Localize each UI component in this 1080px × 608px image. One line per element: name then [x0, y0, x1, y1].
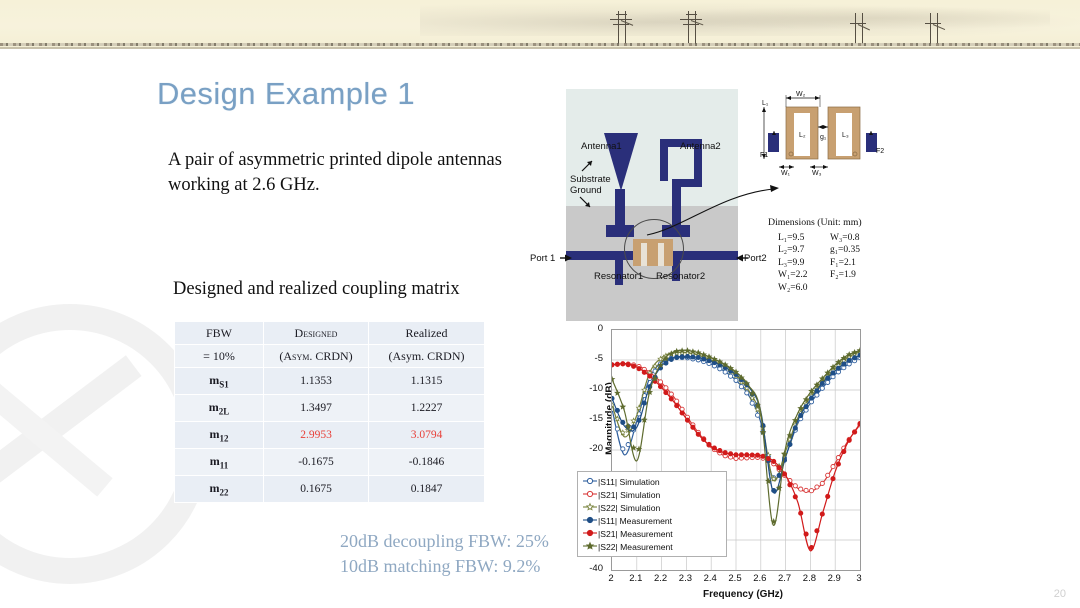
header-designed-sub: (Asym. CRDN)	[264, 345, 369, 368]
header-designed: Designed	[264, 322, 369, 345]
row-label: m22	[175, 476, 264, 503]
row-realized-value: -0.1846	[369, 449, 485, 476]
tower-mast	[930, 13, 938, 44]
chart-x-tick: 2.6	[747, 573, 773, 584]
s-parameter-chart: Magnitude (dB) Frequency (GHz) 0-5-10-15…	[565, 321, 875, 606]
legend-label: |S21| Measurement	[598, 529, 673, 539]
page-number: 20	[1054, 588, 1066, 600]
chart-x-tick: 2.9	[821, 573, 847, 584]
header-realized: Realized	[369, 322, 485, 345]
row-label: m11	[175, 449, 264, 476]
chart-legend: |S11| Simulation|S21| Simulation|S22| Si…	[577, 471, 727, 557]
dimension-row: W₂=6.0	[768, 282, 896, 295]
table-row: m11 -0.1675 -0.1846	[175, 449, 485, 476]
chart-x-tick: 3	[846, 573, 872, 584]
chart-y-tick: -20	[577, 443, 603, 454]
inset-label-g1: g₁	[820, 134, 827, 141]
row-designed-value: 0.1675	[264, 476, 369, 503]
chart-y-tick: -15	[577, 413, 603, 424]
table-header-row-2: = 10% (Asym. CRDN) (Asym. CRDN)	[175, 345, 485, 368]
dimensions-title: Dimensions (Unit: mm)	[768, 217, 896, 230]
dimension-row: W₁=2.2 F₂=1.9	[768, 269, 896, 282]
row-realized-value: 1.1315	[369, 368, 485, 395]
inset-label-l2: L₂	[799, 132, 806, 139]
intro-paragraph: A pair of asymmetric printed dipole ante…	[168, 148, 548, 198]
legend-marker-icon	[582, 541, 598, 553]
tower-arm	[683, 24, 699, 25]
dimension-value: L₁=9.5	[768, 232, 830, 245]
row-label: m2L	[175, 395, 264, 422]
dimension-row: L₁=9.5 W₃=0.8	[768, 232, 896, 245]
page-title: Design Example 1	[157, 76, 415, 112]
inset-label-w2: W₂	[796, 91, 806, 98]
tower-arm	[613, 24, 629, 25]
table-header-row-1: FBW Designed Realized	[175, 322, 485, 345]
dimension-value: W₁=2.2	[768, 269, 830, 282]
legend-marker-icon	[582, 489, 598, 501]
table-row: mS1 1.1353 1.1315	[175, 368, 485, 395]
legend-item[interactable]: |S11| Measurement	[582, 514, 722, 527]
coupling-matrix-table: FBW Designed Realized = 10% (Asym. CRDN)…	[174, 321, 485, 503]
dimension-value	[830, 282, 888, 295]
header-realized-sub: (Asym. CRDN)	[369, 345, 485, 368]
header-banner-image	[0, 0, 1080, 49]
slide-canvas: Design Example 1 A pair of asymmetric pr…	[0, 49, 1080, 608]
dimension-row: L₂=9.7 g₁=0.35	[768, 244, 896, 257]
legend-marker-icon	[582, 502, 598, 514]
table-row: m12 2.9953 3.0794	[175, 422, 485, 449]
inset-label-l3: L₃	[842, 132, 849, 139]
dimension-value: F₂=1.9	[830, 269, 888, 282]
transmission-tower-icon	[682, 11, 700, 44]
tower-mast	[688, 11, 696, 44]
inset-label-f2: F2	[876, 148, 884, 155]
transmission-tower-icon	[926, 13, 940, 44]
legend-marker-icon	[582, 528, 598, 540]
row-realized-value: 1.2227	[369, 395, 485, 422]
legend-label: |S11| Measurement	[598, 516, 672, 526]
row-designed-value: 1.3497	[264, 395, 369, 422]
chart-x-tick: 2.8	[796, 573, 822, 584]
dimension-value: g₁=0.35	[830, 244, 888, 257]
inset-label-w1: W₁	[781, 170, 791, 176]
chart-y-tick: -5	[577, 353, 603, 364]
header-fbw-value: = 10%	[175, 345, 264, 368]
header-fbw: FBW	[175, 322, 264, 345]
legend-label: |S21| Simulation	[598, 490, 660, 500]
note-matching: 10dB matching FBW: 9.2%	[340, 554, 549, 579]
legend-marker-icon	[582, 515, 598, 527]
chart-x-axis-label: Frequency (GHz)	[623, 589, 863, 600]
row-realized-value: 3.0794	[369, 422, 485, 449]
row-designed-value: 1.1353	[264, 368, 369, 395]
banner-ground-line	[0, 43, 1080, 46]
tower-arm	[686, 14, 697, 15]
chart-x-tick: 2.4	[697, 573, 723, 584]
row-designed-value: -0.1675	[264, 449, 369, 476]
transmission-tower-icon	[851, 13, 865, 44]
feed-pad-left	[768, 133, 779, 152]
chart-x-tick: 2.5	[722, 573, 748, 584]
legend-item[interactable]: |S11| Simulation	[582, 475, 722, 488]
table-row: m2L 1.3497 1.2227	[175, 395, 485, 422]
chart-y-tick: 0	[577, 323, 603, 334]
chart-x-tick: 2.7	[772, 573, 798, 584]
dimension-value: F₁=2.1	[830, 257, 888, 270]
table-row: m22 0.1675 0.1847	[175, 476, 485, 503]
row-label: mS1	[175, 368, 264, 395]
dimension-row: L₃=9.9 F₁=2.1	[768, 257, 896, 270]
legend-label: |S22| Measurement	[598, 542, 673, 552]
row-realized-value: 0.1847	[369, 476, 485, 503]
tower-mast	[618, 11, 626, 44]
legend-label: |S11| Simulation	[598, 477, 660, 487]
row-label: m12	[175, 422, 264, 449]
legend-marker-icon	[582, 476, 598, 488]
dimension-value: W₃=0.8	[830, 232, 888, 245]
legend-item[interactable]: |S21| Measurement	[582, 527, 722, 540]
tower-mast	[855, 13, 863, 44]
dimension-value: L₃=9.9	[768, 257, 830, 270]
row-designed-value: 2.9953	[264, 422, 369, 449]
substrate-ground-arrows	[566, 89, 738, 351]
tower-arm	[616, 14, 627, 15]
dimension-value: W₂=6.0	[768, 282, 830, 295]
resonator-detail-inset: W₂ F1 F2 L₂ L₃ g₁ W₁ W₃ L₁	[758, 91, 890, 176]
chart-x-tick: 2	[598, 573, 624, 584]
legend-label: |S22| Simulation	[598, 503, 660, 513]
dimension-value: L₂=9.7	[768, 244, 830, 257]
inset-label-l1: L₁	[762, 100, 769, 107]
legend-item[interactable]: |S22| Simulation	[582, 501, 722, 514]
antenna-layout-figure: Antenna1 Antenna2 Substrate Ground Reson…	[566, 89, 738, 351]
performance-notes: 20dB decoupling FBW: 25% 10dB matching F…	[340, 529, 549, 579]
port-arrows	[520, 244, 760, 274]
note-decoupling: 20dB decoupling FBW: 25%	[340, 529, 549, 554]
transmission-tower-icon	[612, 11, 630, 44]
chart-x-tick: 2.2	[648, 573, 674, 584]
chart-x-tick: 2.1	[623, 573, 649, 584]
legend-item[interactable]: |S21| Simulation	[582, 488, 722, 501]
inset-label-w3: W₃	[812, 170, 822, 176]
table-body: FBW Designed Realized = 10% (Asym. CRDN)…	[175, 322, 485, 503]
inset-label-f1: F1	[760, 152, 768, 159]
coupling-matrix-caption: Designed and realized coupling matrix	[173, 279, 460, 300]
legend-item[interactable]: |S22| Measurement	[582, 540, 722, 553]
dimensions-block: Dimensions (Unit: mm) L₁=9.5 W₃=0.8 L₂=9…	[768, 217, 896, 294]
chart-x-tick: 2.3	[672, 573, 698, 584]
chart-y-tick: -10	[577, 383, 603, 394]
